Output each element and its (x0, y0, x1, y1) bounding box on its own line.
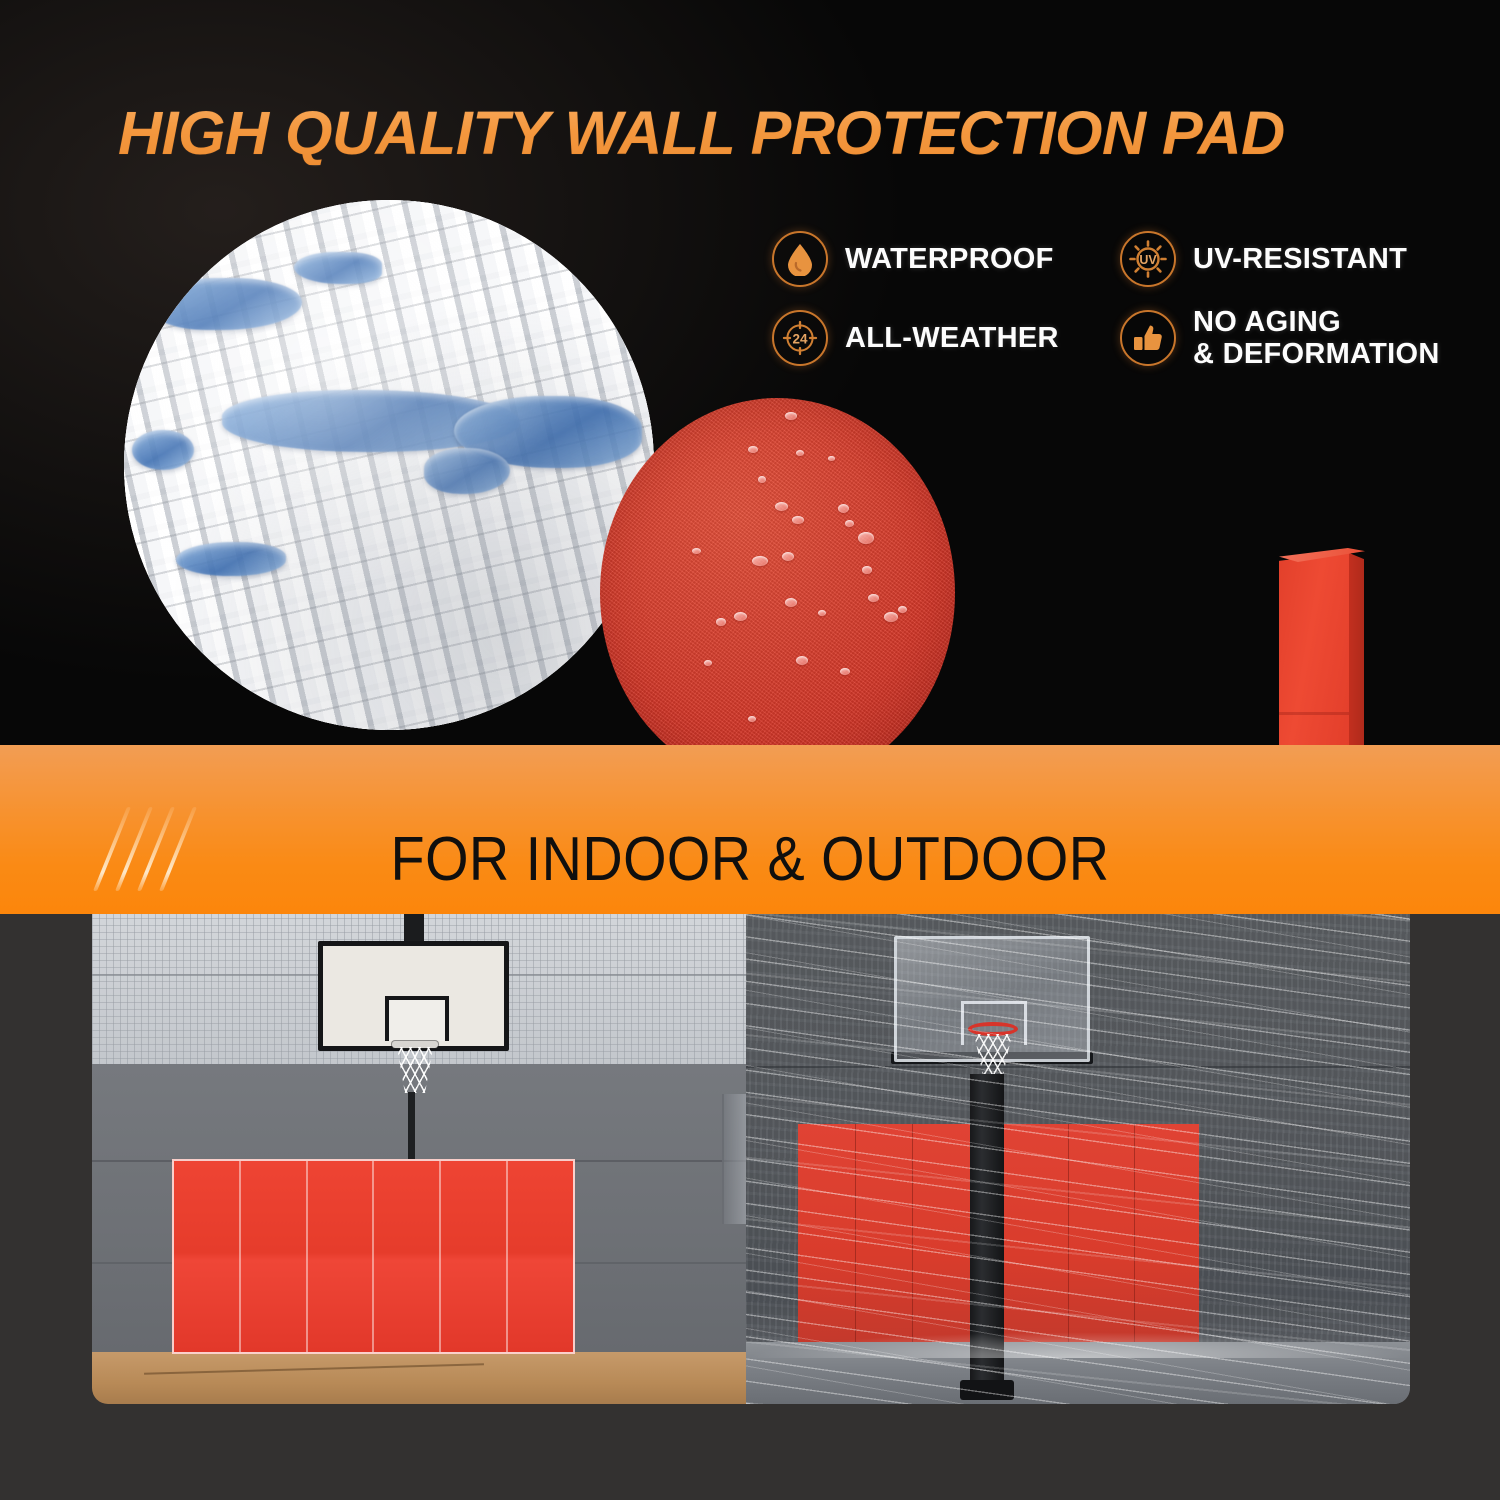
feature-all-weather: 24 ALL-WEATHER (772, 306, 1120, 371)
pad-segment (798, 1124, 856, 1342)
water-bead (792, 516, 804, 524)
svg-text:24: 24 (792, 332, 808, 347)
red-surface-closeup-photo (600, 398, 955, 752)
uv-sun-icon: UV (1120, 231, 1176, 287)
water-drop-icon (772, 231, 828, 287)
water-bead (796, 450, 804, 456)
outdoor-wall-pad-left (798, 1124, 970, 1342)
hero-section: HIGH QUALITY WALL PROTECTION PAD (0, 0, 1500, 752)
water-bead (758, 476, 766, 483)
water-bead (748, 716, 756, 722)
thumbs-up-icon (1120, 310, 1176, 366)
water-bead (840, 668, 850, 675)
water-bead (785, 412, 797, 420)
feature-label-line2: & DEFORMATION (1193, 338, 1440, 370)
outdoor-wall-pad-right (1004, 1124, 1199, 1342)
water-bead (898, 606, 907, 613)
pole-base-plate (960, 1380, 1014, 1400)
water-bead (782, 552, 794, 561)
water-bead (748, 446, 758, 453)
water-bead (828, 456, 835, 461)
svg-text:UV: UV (1139, 253, 1157, 267)
pad-segment (1135, 1124, 1199, 1342)
feature-label-line1: NO AGING (1193, 306, 1341, 338)
feature-no-aging: NO AGING & DEFORMATION (1120, 306, 1472, 371)
pad-segment (241, 1161, 308, 1352)
water-bead (862, 566, 872, 574)
page-title: HIGH QUALITY WALL PROTECTION PAD (118, 101, 1285, 165)
pad-segment (856, 1124, 914, 1342)
gym-wood-floor (92, 1352, 746, 1404)
water-bead (775, 502, 788, 511)
feature-badges: WATERPROOF UV (772, 212, 1472, 371)
water-bead (752, 556, 768, 566)
feature-waterproof: WATERPROOF (772, 212, 1120, 306)
pad-segment (308, 1161, 375, 1352)
indoor-gym-photo (92, 914, 746, 1404)
feature-uv-resistant: UV UV-RESISTANT (1120, 212, 1472, 306)
pad-segment (441, 1161, 508, 1352)
water-bead (868, 594, 879, 602)
backboard-square (385, 996, 449, 1041)
pad-segment (1069, 1124, 1134, 1342)
water-bead (716, 618, 726, 626)
water-bead (818, 610, 826, 616)
water-bead (838, 504, 849, 513)
water-bead (796, 656, 808, 665)
rain-splash-glow (746, 1332, 1410, 1358)
gym-door (722, 1094, 746, 1224)
pad-segment (508, 1161, 573, 1352)
feature-label: WATERPROOF (845, 243, 1054, 275)
pad-segment (1004, 1124, 1069, 1342)
feature-label: ALL-WEATHER (845, 322, 1059, 354)
mesh-closeup-photo (124, 200, 654, 730)
feature-label: NO AGING & DEFORMATION (1193, 306, 1440, 371)
basketball-backboard (318, 941, 509, 1051)
wall-bracket-post (408, 1092, 415, 1165)
basketball-rim (968, 1022, 1018, 1036)
water-bead (692, 548, 701, 554)
water-bead (858, 532, 874, 544)
basketball-rim (392, 1041, 438, 1048)
outdoor-rain-photo (746, 914, 1410, 1404)
feature-label: UV-RESISTANT (1193, 243, 1407, 275)
banner-text: FOR INDOOR & OUTDOOR (75, 824, 1425, 895)
photo-gallery (92, 914, 1410, 1404)
water-bead (884, 612, 898, 622)
24-hours-icon: 24 (772, 310, 828, 366)
water-bead (785, 598, 797, 607)
indoor-wall-pad (172, 1159, 575, 1354)
mesh-shading (124, 200, 654, 730)
water-bead (845, 520, 854, 527)
water-bead (704, 660, 712, 666)
pad-segment (174, 1161, 241, 1352)
pad-segment (913, 1124, 970, 1342)
pad-segment (374, 1161, 441, 1352)
water-bead (734, 612, 747, 621)
